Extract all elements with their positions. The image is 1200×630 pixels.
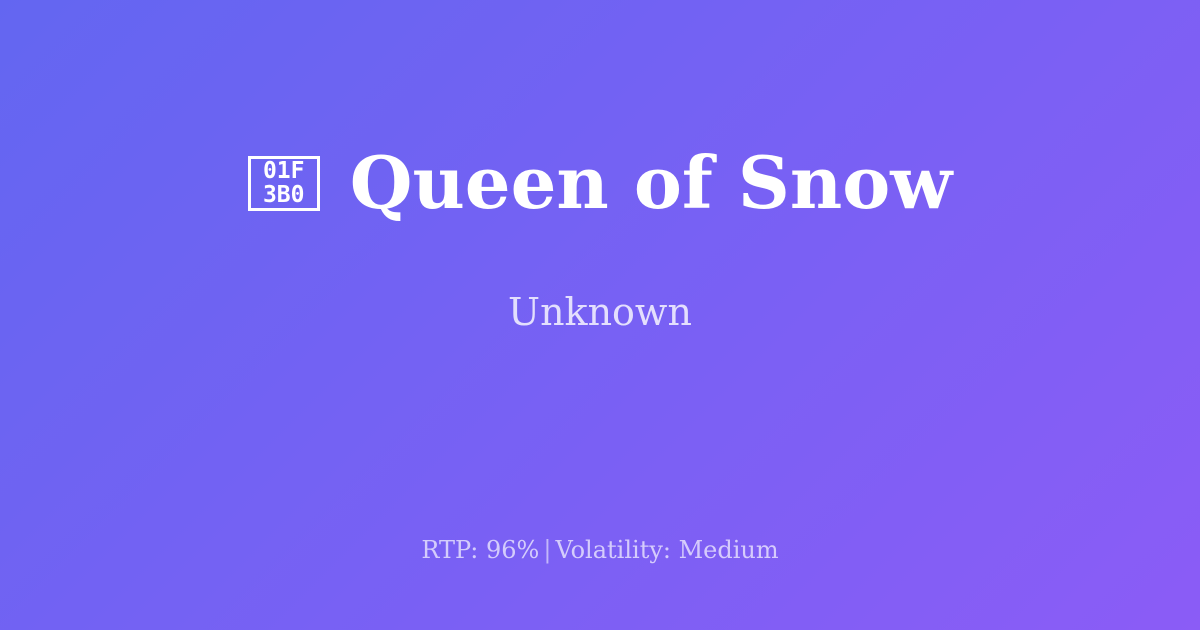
slot-machine-emoji-tofu-icon: 01F 3B0 — [248, 156, 320, 211]
game-og-card: 01F 3B0 Queen of Snow Unknown RTP: 96%|V… — [0, 0, 1200, 630]
meta-separator: | — [539, 536, 555, 564]
tofu-codepoint-top: 01F — [263, 159, 305, 183]
rtp-value: RTP: 96% — [421, 536, 539, 564]
volatility-value: Volatility: Medium — [555, 536, 778, 564]
game-provider-subtitle: Unknown — [508, 293, 692, 331]
title-row: 01F 3B0 Queen of Snow — [248, 147, 953, 219]
game-meta-footer: RTP: 96%|Volatility: Medium — [0, 538, 1200, 562]
tofu-codepoint-bottom: 3B0 — [263, 183, 305, 207]
game-title: Queen of Snow — [350, 147, 953, 219]
hero-center-block: 01F 3B0 Queen of Snow Unknown — [0, 0, 1200, 478]
